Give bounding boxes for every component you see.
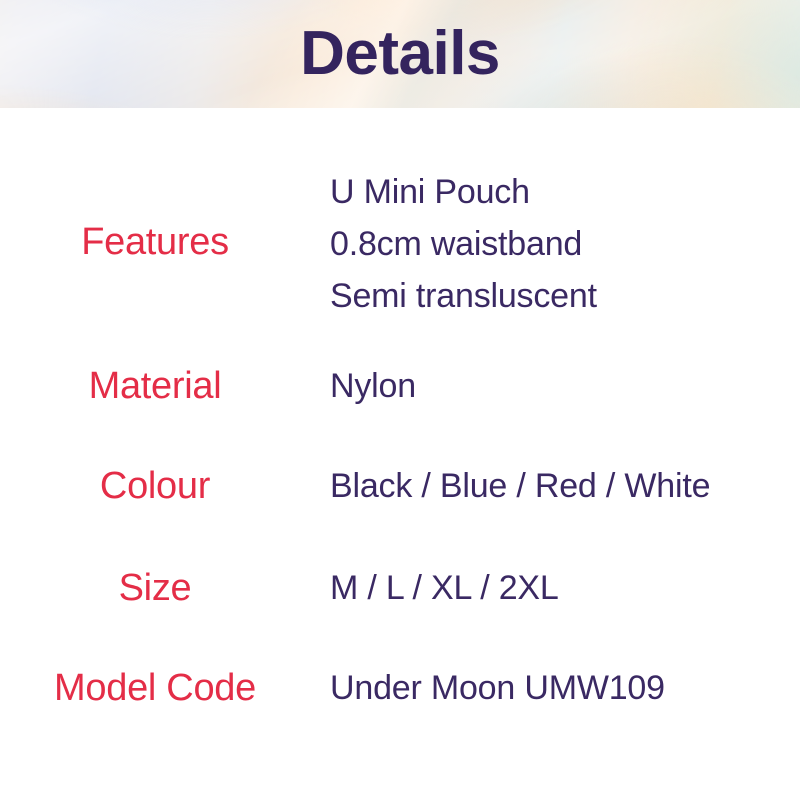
table-row: Features U Mini Pouch 0.8cm waistband Se…: [0, 166, 800, 322]
spec-value-line: 0.8cm waistband: [330, 218, 800, 270]
spec-label-material: Material: [0, 360, 310, 412]
spec-table: Features U Mini Pouch 0.8cm waistband Se…: [0, 108, 800, 714]
spec-value-line: U Mini Pouch: [330, 166, 800, 218]
table-row: Model Code Under Moon UMW109: [0, 662, 800, 714]
spec-value-colour: Black / Blue / Red / White: [310, 460, 800, 512]
table-row: Colour Black / Blue / Red / White: [0, 460, 800, 512]
page-title: Details: [0, 0, 800, 108]
spec-value-line: Nylon: [330, 360, 800, 412]
spec-value-model-code: Under Moon UMW109: [310, 662, 800, 714]
table-row: Material Nylon: [0, 360, 800, 412]
spec-label-features: Features: [0, 216, 310, 268]
spec-value-line: Black / Blue / Red / White: [330, 460, 800, 512]
spec-value-material: Nylon: [310, 360, 800, 412]
spec-label-size: Size: [0, 562, 310, 614]
spec-value-size: M / L / XL / 2XL: [310, 562, 800, 614]
page-header-banner: Details: [0, 0, 800, 108]
table-row: Size M / L / XL / 2XL: [0, 562, 800, 614]
spec-value-line: Under Moon UMW109: [330, 662, 800, 714]
details-page: Details Features U Mini Pouch 0.8cm wais…: [0, 0, 800, 800]
spec-value-features: U Mini Pouch 0.8cm waistband Semi transl…: [310, 166, 800, 322]
spec-value-line: M / L / XL / 2XL: [330, 562, 800, 614]
spec-value-line: Semi transluscent: [330, 270, 800, 322]
spec-label-colour: Colour: [0, 460, 310, 512]
spec-label-model-code: Model Code: [0, 662, 310, 714]
